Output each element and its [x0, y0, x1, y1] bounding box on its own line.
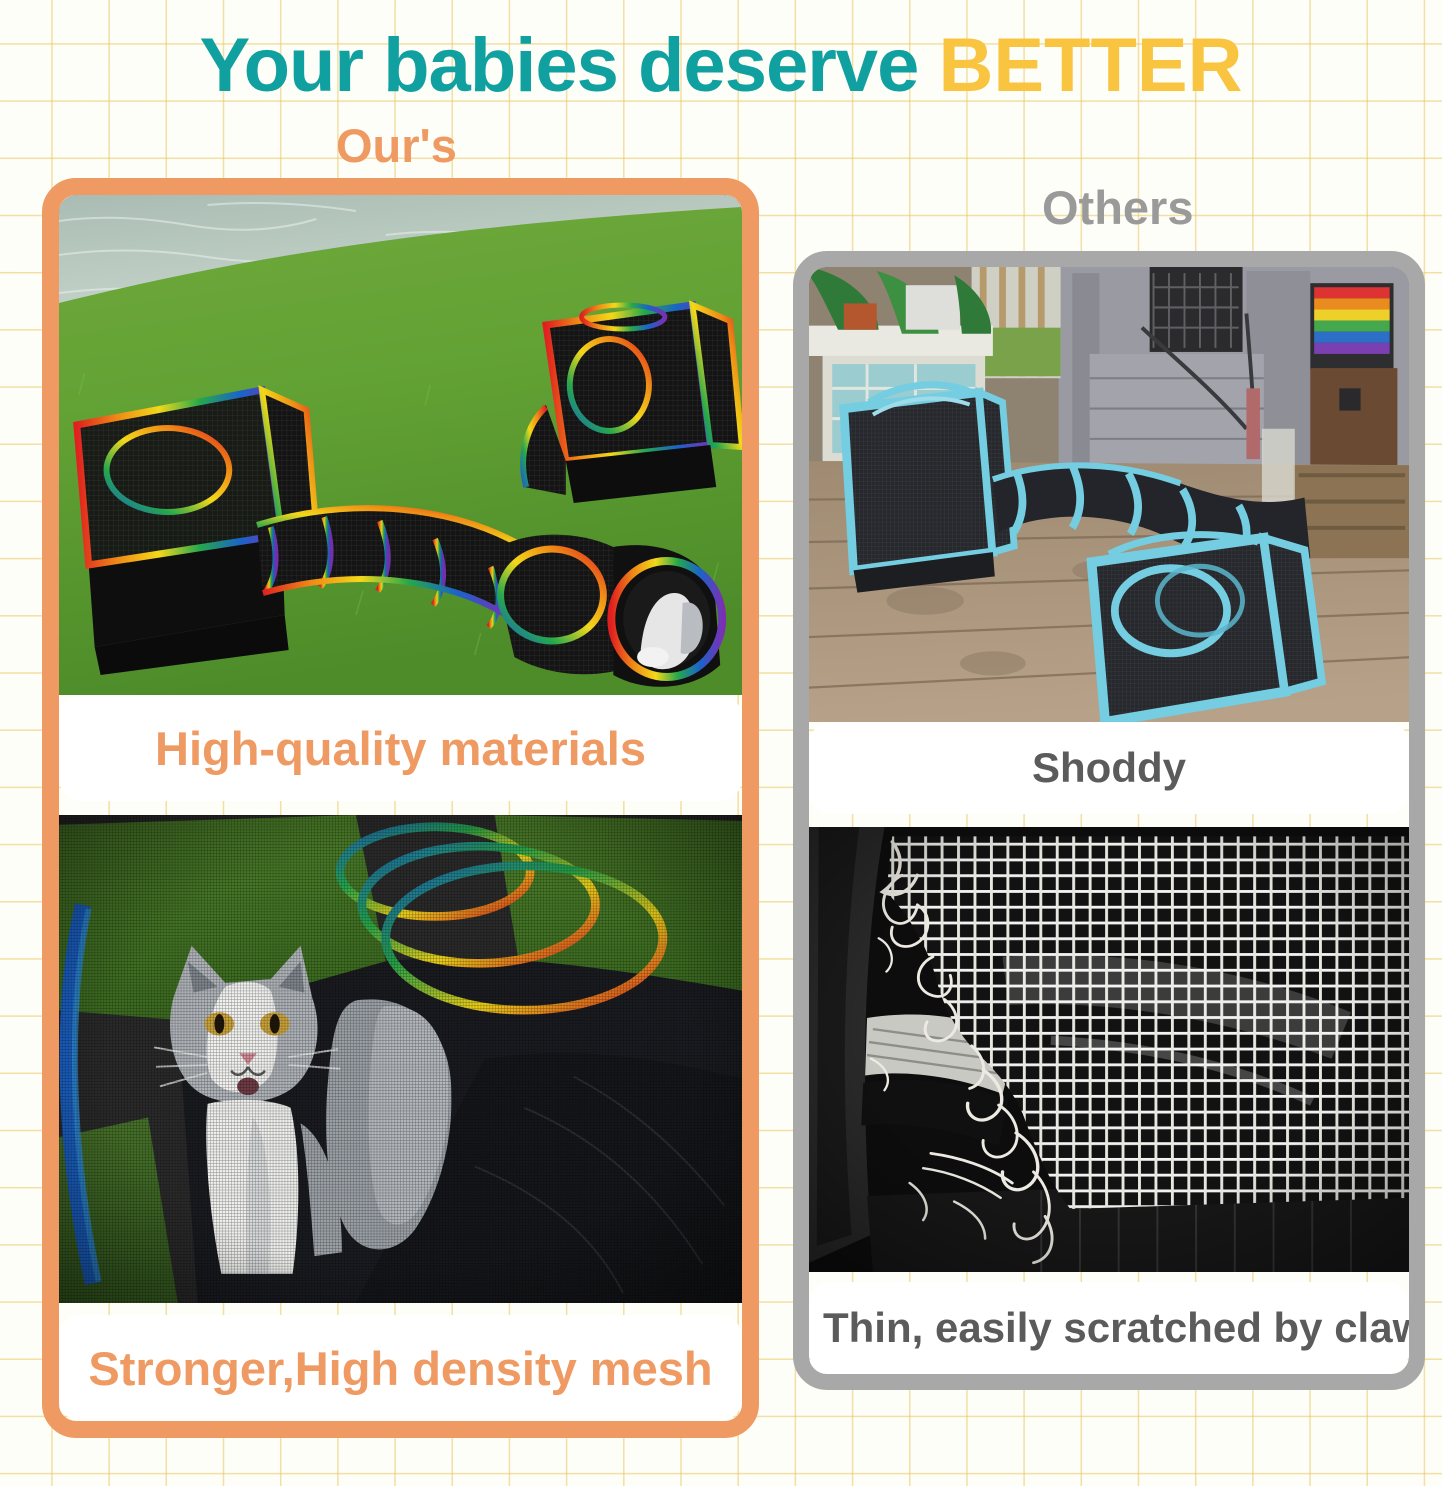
illustration-torn-white-mesh	[809, 827, 1409, 1272]
photo-ours-high-quality-materials	[59, 195, 742, 695]
label-others: Others	[1042, 184, 1194, 231]
headline-emphasis-text: BETTER	[938, 23, 1242, 108]
panel-ours: High-quality materials	[42, 178, 759, 1438]
caption-card-ours-2: Stronger,High density mesh	[59, 1315, 742, 1421]
illustration-cat-behind-dense-mesh	[59, 815, 742, 1303]
panel-others: Shoddy	[793, 251, 1425, 1390]
caption-text-thin-scratched: Thin, easily scratched by claws	[823, 1307, 1395, 1349]
caption-card-others-1: Shoddy	[809, 722, 1409, 814]
photo-ours-high-density-mesh	[59, 815, 742, 1303]
caption-text-high-density-mesh: Stronger,High density mesh	[77, 1345, 724, 1392]
caption-text-high-quality-materials: High-quality materials	[77, 725, 724, 772]
caption-card-ours-1: High-quality materials	[59, 695, 742, 801]
caption-text-shoddy: Shoddy	[823, 747, 1395, 789]
photo-others-shoddy	[809, 267, 1409, 722]
comparison-cell-others-2: Thin, easily scratched by claws	[809, 827, 1409, 1374]
illustration-rainbow-tunnel-on-grass	[59, 195, 742, 695]
comparison-cell-ours-1: High-quality materials	[59, 195, 742, 801]
label-ours: Our's	[336, 122, 457, 169]
caption-card-others-2: Thin, easily scratched by claws	[809, 1282, 1409, 1374]
illustration-blue-trim-pens-on-deck	[809, 267, 1409, 722]
comparison-cell-others-1: Shoddy	[809, 267, 1409, 814]
page-headline: Your babies deserve BETTER	[0, 28, 1442, 104]
comparison-cell-ours-2: Stronger,High density mesh	[59, 815, 742, 1421]
photo-others-thin-mesh	[809, 827, 1409, 1272]
headline-primary-text: Your babies deserve	[200, 23, 939, 108]
